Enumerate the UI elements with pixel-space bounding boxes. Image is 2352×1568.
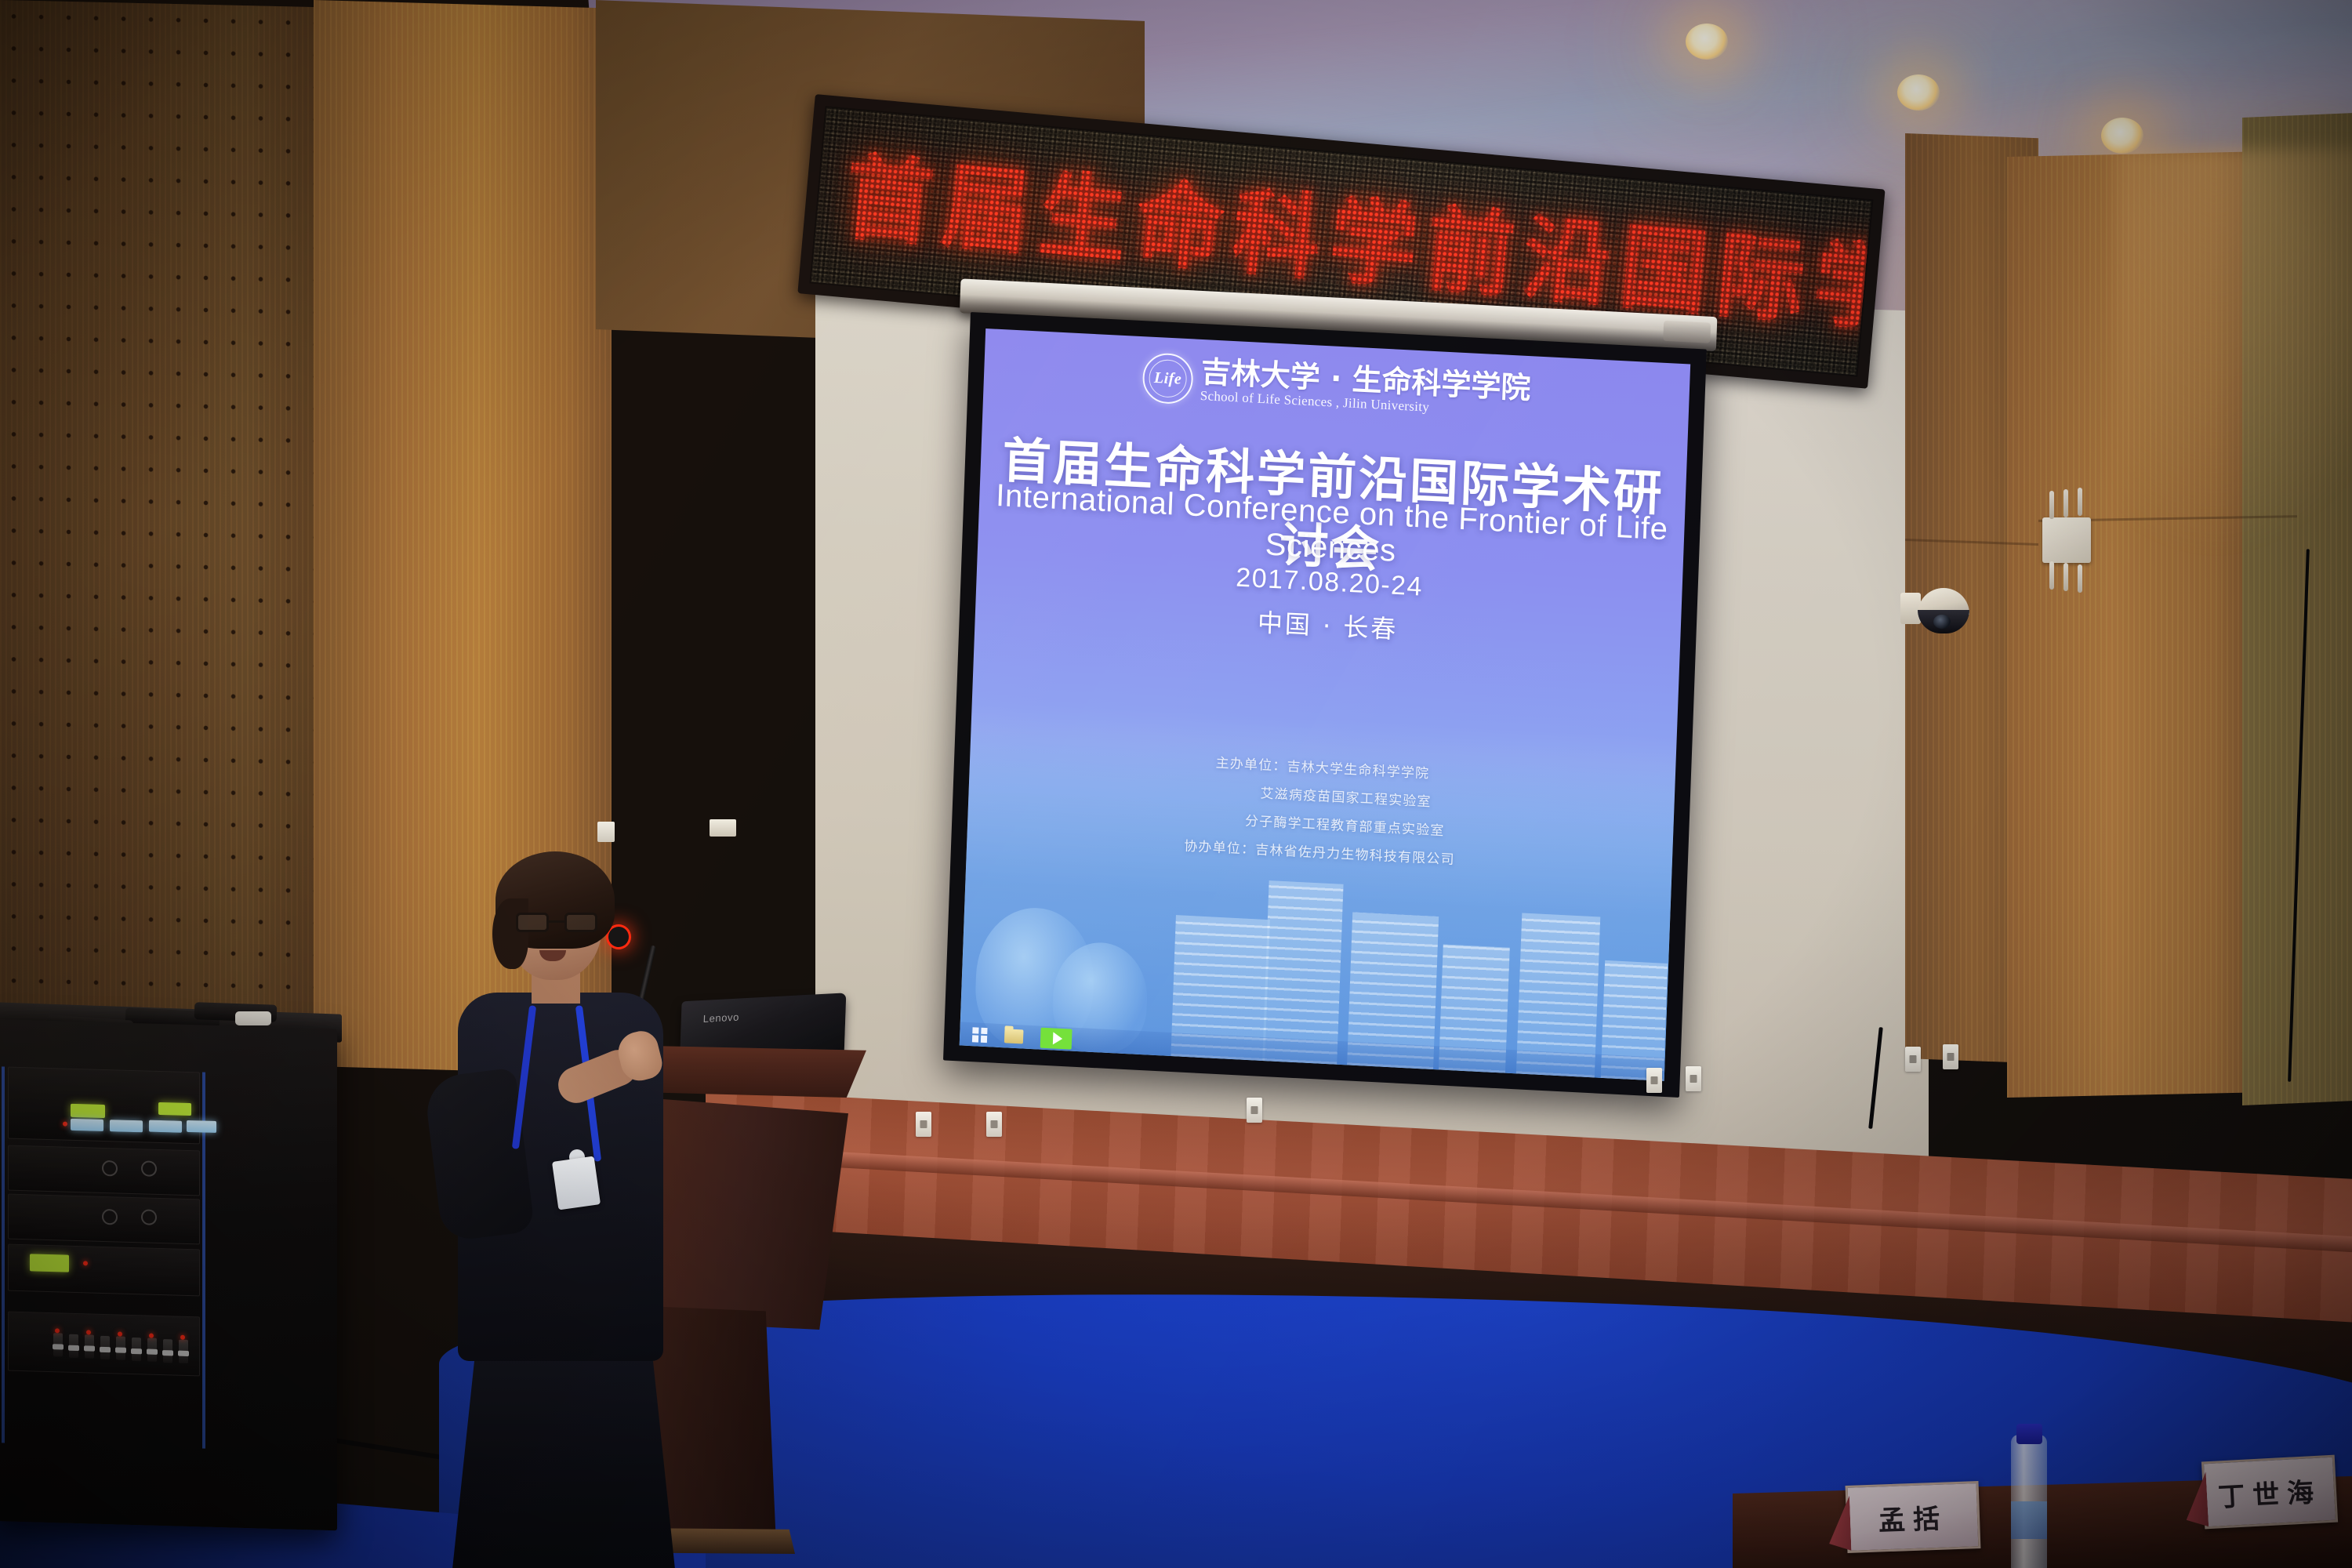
university-seal-icon: Life <box>1142 352 1193 405</box>
receiver-channel-display <box>71 1119 103 1131</box>
acoustic-perforated-wall-panel <box>0 0 329 1043</box>
mixer-fader[interactable] <box>132 1338 141 1361</box>
wall-switch-plate[interactable] <box>597 822 615 842</box>
camera-lens-icon <box>1933 615 1951 629</box>
mixer-channel-led <box>86 1330 91 1334</box>
ceiling-downlight <box>1897 74 1940 111</box>
mixer-channel-led <box>118 1331 122 1336</box>
power-outlet[interactable] <box>1905 1047 1921 1072</box>
wifi-antenna-icon <box>2063 563 2068 591</box>
slide-photo-building <box>1262 880 1343 1065</box>
wood-grain-texture <box>0 0 329 1043</box>
bottle-cap <box>2016 1424 2042 1444</box>
mixer-fader[interactable] <box>85 1334 94 1358</box>
bottle-label <box>2011 1501 2047 1539</box>
mixer-channel-led <box>55 1328 60 1333</box>
presenter-hair-side <box>492 898 528 969</box>
receiver-display-green <box>71 1104 105 1118</box>
wifi-access-point <box>2042 517 2091 563</box>
wifi-antenna-icon <box>2063 489 2068 517</box>
wifi-antenna-icon <box>2078 488 2082 516</box>
wall-switch-plate[interactable] <box>710 819 736 837</box>
wall-uplight-glow <box>2117 149 2352 557</box>
projection-screen-border: Life 吉林大学 · 生命科学学院 School of Life Scienc… <box>943 312 1707 1098</box>
organizer-line: 艾滋病疫苗国家工程实验室 <box>1211 779 1432 810</box>
ptz-dome-camera <box>1911 588 1974 633</box>
presenter-lower-garment <box>450 1333 677 1568</box>
power-outlet[interactable] <box>1247 1098 1262 1123</box>
presentation-slide: Life 吉林大学 · 生命科学学院 School of Life Scienc… <box>960 328 1690 1081</box>
name-card: 孟括 <box>1846 1481 1981 1553</box>
mixer-channel-led <box>180 1335 185 1340</box>
receiver-channel-display <box>110 1120 143 1132</box>
receiver-display-green <box>158 1102 191 1116</box>
amplifier-knob[interactable] <box>141 1160 157 1177</box>
ceiling-downlight <box>1686 24 1728 60</box>
mixer-fader[interactable] <box>163 1339 172 1363</box>
name-card-text: 孟括 <box>1878 1497 1948 1537</box>
slide-logo: Life 吉林大学 · 生命科学学院 School of Life Scienc… <box>1142 352 1531 422</box>
wifi-antenna-icon <box>2049 491 2054 519</box>
conference-hall-photo: 首届生命科学前沿国际学术研讨会 <box>0 0 2352 1568</box>
folder-icon[interactable] <box>1004 1029 1024 1044</box>
wifi-antenna-icon <box>2078 564 2082 593</box>
status-led <box>83 1261 88 1265</box>
mixer-fader[interactable] <box>116 1336 125 1359</box>
mixer-fader[interactable] <box>179 1340 188 1363</box>
mixer-fader[interactable] <box>53 1333 63 1356</box>
seal-life-text: Life <box>1154 368 1182 388</box>
organizer-line: 分子酶学工程教育部重点实验室 <box>1196 807 1445 839</box>
projection-screen-assembly: Life 吉林大学 · 生命科学学院 School of Life Scienc… <box>943 312 1707 1098</box>
windows-start-icon[interactable] <box>972 1027 988 1043</box>
conference-badge <box>552 1156 601 1210</box>
power-outlet[interactable] <box>1943 1044 1958 1069</box>
status-led <box>63 1122 67 1127</box>
processor-display <box>30 1254 69 1272</box>
mixer-channel-led <box>149 1334 154 1338</box>
amplifier-knob[interactable] <box>102 1209 118 1225</box>
av-equipment-rack <box>0 1019 337 1530</box>
name-card: 丁世海 <box>2201 1455 2338 1530</box>
wifi-antenna-icon <box>2049 561 2054 590</box>
slide-logo-text: 吉林大学 · 生命科学学院 School of Life Sciences , … <box>1200 357 1531 420</box>
presenter-remote[interactable] <box>235 1011 271 1025</box>
power-outlet[interactable] <box>1646 1068 1662 1093</box>
presenter-person <box>439 862 721 1568</box>
receiver-channel-display <box>187 1120 216 1133</box>
power-outlet[interactable] <box>1686 1066 1701 1091</box>
name-card-text: 丁世海 <box>2217 1470 2322 1514</box>
screen-roller-end-cap <box>1663 321 1711 343</box>
power-outlet[interactable] <box>986 1112 1002 1137</box>
eyeglasses-icon <box>516 913 597 933</box>
mixer-fader[interactable] <box>100 1336 110 1359</box>
mixer-fader[interactable] <box>147 1338 157 1362</box>
mixer-fader[interactable] <box>69 1334 78 1358</box>
amplifier-knob[interactable] <box>141 1209 157 1225</box>
power-outlet[interactable] <box>916 1112 931 1137</box>
receiver-channel-display <box>149 1120 182 1133</box>
amplifier-knob[interactable] <box>102 1160 118 1177</box>
slideshow-play-icon[interactable] <box>1040 1028 1073 1050</box>
